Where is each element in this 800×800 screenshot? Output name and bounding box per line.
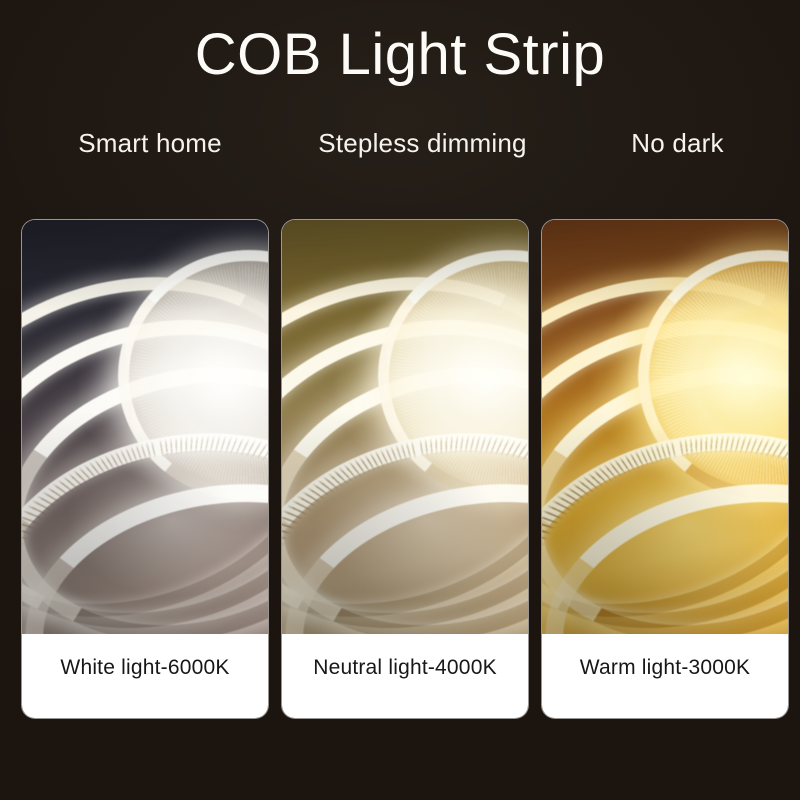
product-card-neutral-light[interactable]: Neutral light-4000K xyxy=(282,220,528,718)
feature-item-no-dark: No dark xyxy=(555,128,800,159)
product-card-row: White light-6000K xyxy=(22,220,788,720)
photo-glow xyxy=(22,220,268,634)
caption-label: White light-6000K xyxy=(60,656,229,680)
photo-glow xyxy=(282,220,528,634)
product-photo-warm-light xyxy=(542,220,788,634)
feature-item-stepless-dimming: Stepless dimming xyxy=(290,128,555,159)
card-caption-white-light: White light-6000K xyxy=(22,634,268,718)
card-caption-warm-light: Warm light-3000K xyxy=(542,634,788,718)
card-caption-neutral-light: Neutral light-4000K xyxy=(282,634,528,718)
product-card-white-light[interactable]: White light-6000K xyxy=(22,220,268,718)
product-photo-white-light xyxy=(22,220,268,634)
banner-header: COB Light Strip Smart home Stepless dimm… xyxy=(0,0,800,200)
product-banner: COB Light Strip Smart home Stepless dimm… xyxy=(0,0,800,800)
photo-glow xyxy=(542,220,788,634)
caption-label: Warm light-3000K xyxy=(580,656,750,680)
caption-label: Neutral light-4000K xyxy=(313,656,497,680)
product-card-warm-light[interactable]: Warm light-3000K xyxy=(542,220,788,718)
product-photo-neutral-light xyxy=(282,220,528,634)
feature-item-smart-home: Smart home xyxy=(0,128,290,159)
page-title: COB Light Strip xyxy=(0,22,800,89)
feature-list: Smart home Stepless dimming No dark xyxy=(0,128,800,159)
